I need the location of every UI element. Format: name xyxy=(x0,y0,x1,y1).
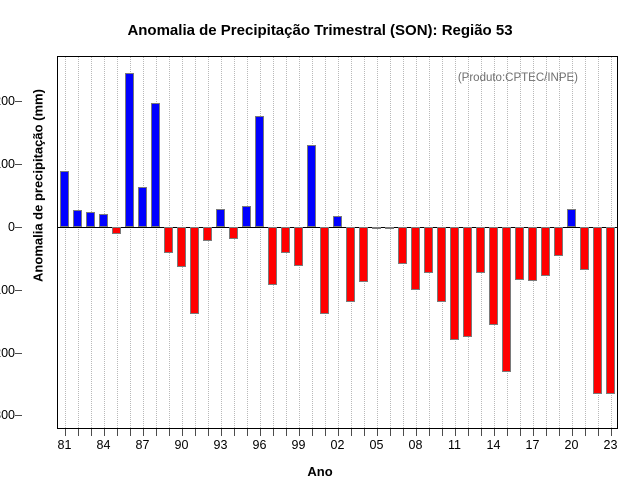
plot-inner xyxy=(58,57,617,428)
bar-2023 xyxy=(606,227,614,394)
x-axis-tick xyxy=(260,429,261,436)
bar-1999 xyxy=(294,227,302,266)
x-axis-tick xyxy=(169,429,170,436)
gridline-vertical xyxy=(312,57,313,428)
bar-1992 xyxy=(203,227,211,241)
bar-2009 xyxy=(424,227,432,274)
gridline-vertical xyxy=(247,57,248,428)
x-axis-tick xyxy=(325,429,326,436)
bar-2015 xyxy=(502,227,510,372)
source-annotation: (Produto:CPTEC/INPE) xyxy=(458,72,578,84)
x-axis-label: 14 xyxy=(487,438,501,452)
bar-2001 xyxy=(320,227,328,314)
gridline-vertical xyxy=(91,57,92,428)
bar-1984 xyxy=(99,214,107,227)
x-axis-tick xyxy=(234,429,235,436)
x-axis-tick xyxy=(611,429,612,436)
x-axis-tick xyxy=(416,429,417,436)
gridline-vertical xyxy=(143,57,144,428)
bar-1986 xyxy=(125,73,133,226)
y-axis-tick xyxy=(15,164,22,165)
bar-1982 xyxy=(73,210,81,227)
bar-2012 xyxy=(463,227,471,337)
y-axis-tick xyxy=(15,415,22,416)
x-axis-tick xyxy=(286,429,287,436)
x-axis-label: 20 xyxy=(565,438,579,452)
x-axis-tick xyxy=(312,429,313,436)
y-axis-label: -100 xyxy=(0,283,15,297)
bar-2000 xyxy=(307,145,315,227)
x-axis-tick xyxy=(598,429,599,436)
x-axis-label: 87 xyxy=(136,438,150,452)
x-axis-tick xyxy=(572,429,573,436)
x-axis-tick xyxy=(338,429,339,436)
x-axis-tick xyxy=(221,429,222,436)
bar-2014 xyxy=(489,227,497,325)
x-axis-tick xyxy=(533,429,534,436)
y-axis-label: 100 xyxy=(0,157,15,171)
bar-2007 xyxy=(398,227,406,264)
plot-area xyxy=(57,56,618,429)
page-title: Anomalia de Precipitação Trimestral (SON… xyxy=(0,22,640,39)
bar-2018 xyxy=(541,227,549,277)
bar-2008 xyxy=(411,227,419,290)
x-axis-tick xyxy=(377,429,378,436)
x-axis-tick xyxy=(507,429,508,436)
x-axis-label: 81 xyxy=(58,438,72,452)
bar-2004 xyxy=(359,227,367,282)
bar-2013 xyxy=(476,227,484,274)
x-axis-tick xyxy=(494,429,495,436)
x-axis-label: 96 xyxy=(253,438,267,452)
bar-1996 xyxy=(255,116,263,227)
bar-2022 xyxy=(593,227,601,394)
x-axis-tick xyxy=(273,429,274,436)
x-axis-tick xyxy=(403,429,404,436)
x-axis-tick xyxy=(520,429,521,436)
x-axis-label: 99 xyxy=(292,438,306,452)
bar-1988 xyxy=(151,103,159,227)
bar-1993 xyxy=(216,209,224,227)
x-axis-tick xyxy=(442,429,443,436)
bar-1981 xyxy=(60,171,68,226)
x-axis-tick xyxy=(559,429,560,436)
x-axis-tick xyxy=(468,429,469,436)
bar-2003 xyxy=(346,227,354,302)
x-axis-tick xyxy=(546,429,547,436)
x-axis-tick xyxy=(208,429,209,436)
x-axis-label: 84 xyxy=(97,438,111,452)
x-axis-tick xyxy=(65,429,66,436)
gridline-vertical xyxy=(208,57,209,428)
bar-2005 xyxy=(372,227,380,230)
x-axis-tick xyxy=(156,429,157,436)
y-axis-tick xyxy=(15,101,22,102)
bar-1995 xyxy=(242,206,250,227)
bar-1991 xyxy=(190,227,198,314)
y-axis-label: 0 xyxy=(8,220,15,234)
y-axis-label: -200 xyxy=(0,346,15,360)
x-axis-tick xyxy=(364,429,365,436)
x-axis-tick xyxy=(182,429,183,436)
bar-1994 xyxy=(229,227,237,240)
x-axis-tick xyxy=(130,429,131,436)
gridline-vertical xyxy=(65,57,66,428)
x-axis-tick xyxy=(91,429,92,436)
gridline-vertical xyxy=(377,57,378,428)
gridline-vertical xyxy=(572,57,573,428)
bar-2002 xyxy=(333,216,341,227)
gridline-vertical xyxy=(234,57,235,428)
chart-page: Anomalia de Precipitação Trimestral (SON… xyxy=(0,0,640,500)
x-axis-tick xyxy=(429,429,430,436)
gridline-vertical xyxy=(78,57,79,428)
x-axis-tick xyxy=(455,429,456,436)
x-axis-label: 05 xyxy=(370,438,384,452)
gridline-vertical xyxy=(390,57,391,428)
bar-2011 xyxy=(450,227,458,340)
x-axis-tick xyxy=(481,429,482,436)
y-axis-tick xyxy=(15,353,22,354)
x-axis-label: 11 xyxy=(448,438,461,452)
gridline-vertical xyxy=(260,57,261,428)
gridline-vertical xyxy=(117,57,118,428)
gridline-vertical xyxy=(338,57,339,428)
x-axis-tick xyxy=(195,429,196,436)
gridline-vertical xyxy=(221,57,222,428)
bar-2021 xyxy=(580,227,588,270)
bar-1987 xyxy=(138,187,146,227)
x-axis-title: Ano xyxy=(0,464,640,479)
y-axis-title: Anomalia de precipitação (mm) xyxy=(31,36,46,336)
gridline-vertical xyxy=(104,57,105,428)
y-axis-label: 200 xyxy=(0,94,15,108)
x-axis-tick xyxy=(117,429,118,436)
bar-1990 xyxy=(177,227,185,267)
y-axis-label: -300 xyxy=(0,408,15,422)
bar-2019 xyxy=(554,227,562,257)
x-axis-tick xyxy=(143,429,144,436)
y-axis-tick xyxy=(15,227,22,228)
x-axis-label: 90 xyxy=(175,438,189,452)
x-axis-label: 93 xyxy=(214,438,228,452)
x-axis-tick xyxy=(247,429,248,436)
bar-2016 xyxy=(515,227,523,280)
x-axis-tick xyxy=(299,429,300,436)
bar-1983 xyxy=(86,212,94,227)
x-axis-tick xyxy=(104,429,105,436)
x-axis-label: 02 xyxy=(331,438,345,452)
x-axis-label: 08 xyxy=(409,438,423,452)
bar-2006 xyxy=(385,227,393,229)
bar-2020 xyxy=(567,209,575,227)
bar-1997 xyxy=(268,227,276,285)
x-axis-label: 23 xyxy=(604,438,618,452)
bar-1989 xyxy=(164,227,172,253)
bar-2017 xyxy=(528,227,536,282)
x-axis-tick xyxy=(78,429,79,436)
bar-1998 xyxy=(281,227,289,253)
x-axis-label: 17 xyxy=(526,438,540,452)
bar-2010 xyxy=(437,227,445,302)
x-axis-tick xyxy=(390,429,391,436)
x-axis-tick xyxy=(585,429,586,436)
x-axis-tick xyxy=(351,429,352,436)
bar-1985 xyxy=(112,227,120,234)
y-axis-tick xyxy=(15,290,22,291)
